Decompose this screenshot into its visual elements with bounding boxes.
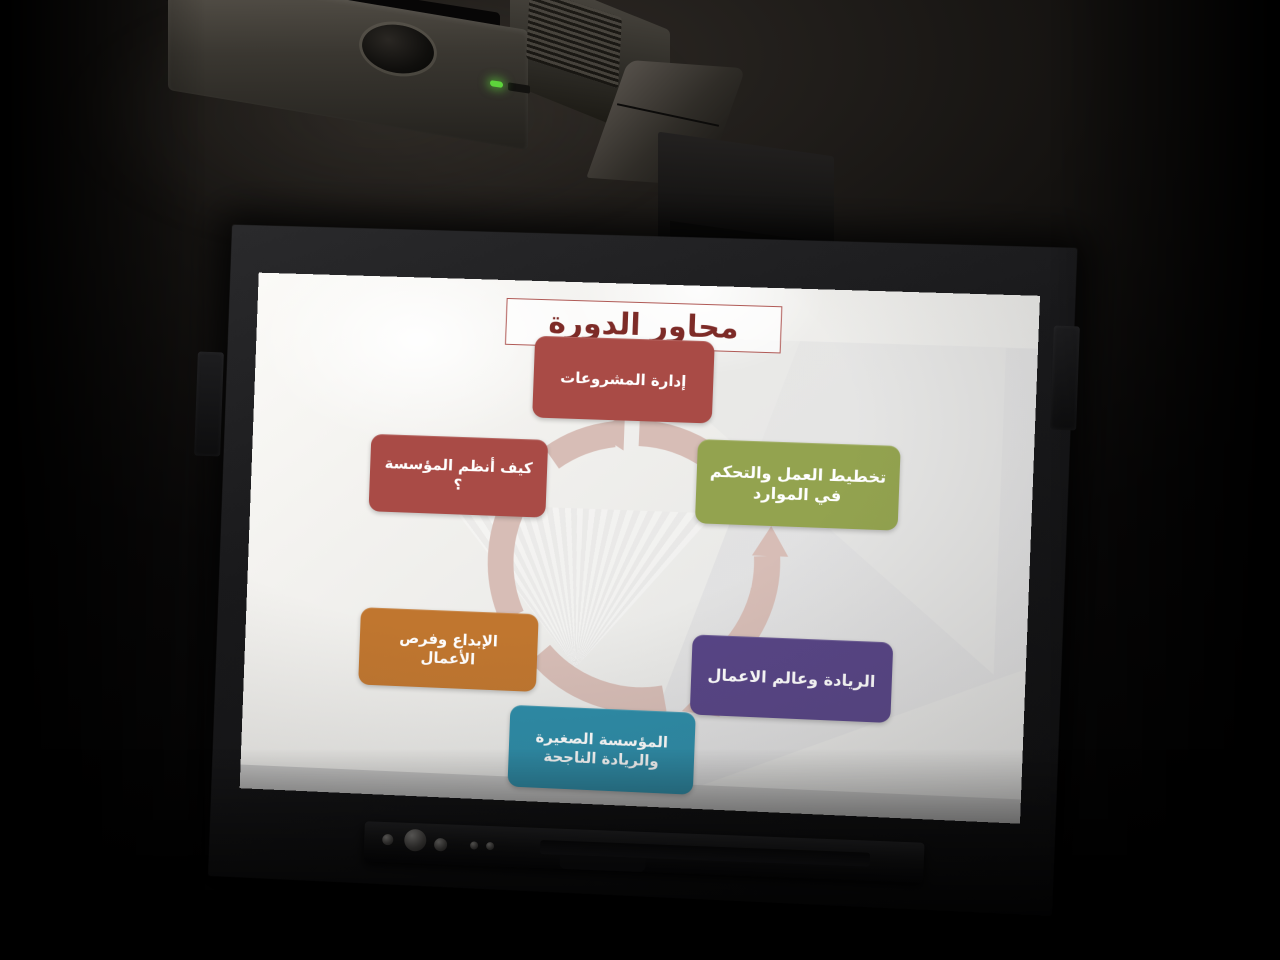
node-creativity[interactable]: الإبداع وفرص الأعمال [358,607,539,692]
node-work-planning[interactable]: تخطيط العمل والتحكم في الموارد [695,439,901,531]
node-project-management[interactable]: إدارة المشروعات [532,336,715,424]
node-organize-enterprise[interactable]: كيف أنظم المؤسسة ؟ [369,434,549,518]
node-label: الإبداع وفرص الأعمال [369,628,528,672]
projected-slide: محاور الدورة إدارة المشروعات تخطيط العمل… [240,273,1040,824]
node-label: الريادة وعالم الاعمال [707,665,876,692]
node-label: إدارة المشروعات [560,368,687,391]
node-entrepreneurship[interactable]: الريادة وعالم الاعمال [690,634,894,723]
projector-body [168,0,528,150]
node-label: كيف أنظم المؤسسة ؟ [379,454,537,497]
whiteboard-display-area[interactable]: محاور الدورة إدارة المشروعات تخطيط العمل… [240,273,1040,824]
node-label: تخطيط العمل والتحكم في الموارد [706,461,890,508]
wall-shadow-bottom [0,749,1280,960]
dark-classroom-scene: محاور الدورة إدارة المشروعات تخطيط العمل… [0,0,1280,960]
